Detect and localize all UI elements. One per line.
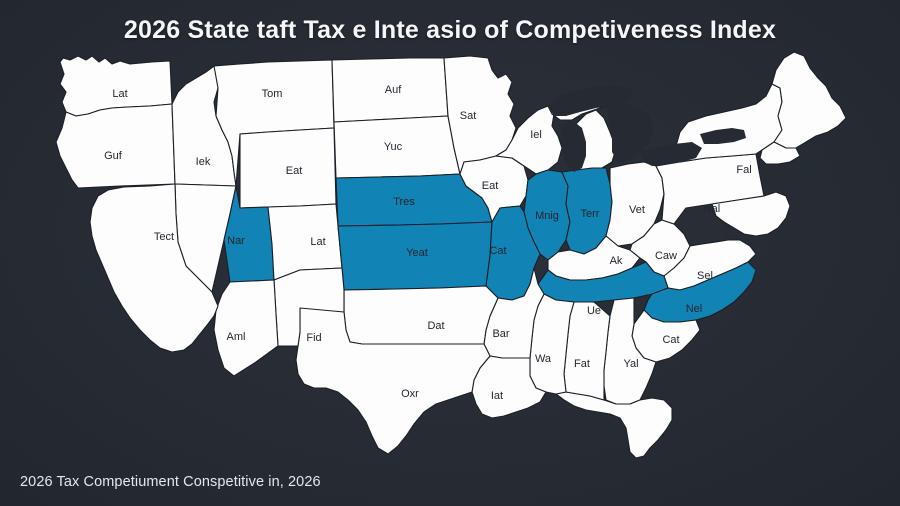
state-shape-ks[interactable] [338,222,492,290]
state-shape-new-england[interactable] [772,52,846,148]
state-shape-wy[interactable] [240,128,336,208]
us-map-svg: LatTomGufIekAufSatYucEatIelTresEatMnigTe… [0,44,900,464]
footer-caption: 2026 Tax Competiument Conspetitive in, 2… [20,474,321,490]
state-shape-nd[interactable] [332,58,448,122]
states-layer [56,52,846,458]
map-visualization-root: 2026 State taft Tax e Inte asio of Compe… [0,0,900,506]
state-shape-az[interactable] [214,280,278,376]
state-shape-or[interactable] [56,104,175,188]
us-choropleth-map: LatTomGufIekAufSatYucEatIelTresEatMnigTe… [0,44,900,464]
state-shape-sd[interactable] [334,116,460,178]
page-title: 2026 State taft Tax e Inte asio of Compe… [0,16,900,45]
state-shape-ok[interactable] [344,286,498,344]
state-shape-al[interactable] [564,302,610,400]
